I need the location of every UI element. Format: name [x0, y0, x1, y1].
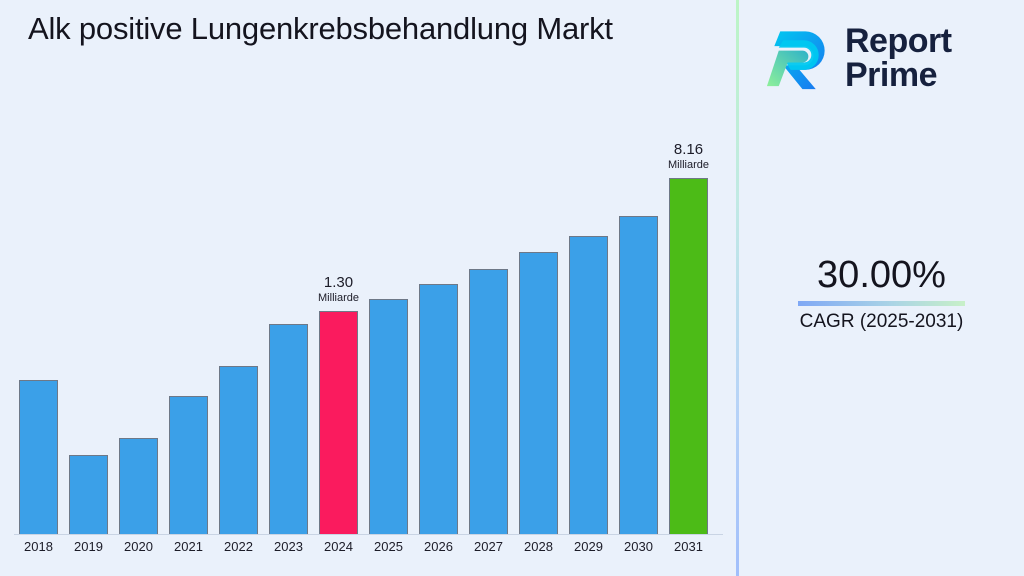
logo-wordmark: Report Prime: [845, 24, 952, 92]
x-tick-2025: 2025: [369, 539, 408, 554]
x-tick-2030: 2030: [619, 539, 658, 554]
bar-value-label-2031: 8.16Milliarde: [668, 141, 709, 172]
cagr-divider-rule: [798, 301, 965, 306]
bar-2019[interactable]: [69, 455, 108, 534]
chart-page: Alk positive Lungenkrebsbehandlung Markt…: [0, 0, 1024, 576]
x-tick-2019: 2019: [69, 539, 108, 554]
bar-2031[interactable]: [669, 178, 708, 534]
bar-2018[interactable]: [19, 380, 58, 534]
logo-wordmark-line-2: Prime: [845, 58, 952, 92]
bar-value-2024: 1.30: [318, 274, 359, 291]
bar-2027[interactable]: [469, 269, 508, 534]
bar-2023[interactable]: [269, 324, 308, 534]
bar-2022[interactable]: [219, 366, 258, 534]
plot-area: 1.30Milliarde8.16Milliarde: [0, 120, 737, 535]
x-tick-2029: 2029: [569, 539, 608, 554]
x-axis-tick-labels: 2018201920202021202220232024202520262027…: [0, 536, 737, 566]
x-tick-2028: 2028: [519, 539, 558, 554]
report-prime-logo: Report Prime: [761, 12, 1011, 104]
bar-2029[interactable]: [569, 236, 608, 534]
logo-wordmark-line-1: Report: [845, 24, 952, 58]
x-tick-2031: 2031: [669, 539, 708, 554]
bar-value-label-2024: 1.30Milliarde: [318, 274, 359, 305]
x-tick-2020: 2020: [119, 539, 158, 554]
bar-unit-2024: Milliarde: [318, 291, 359, 305]
report-prime-logo-icon: [761, 21, 835, 95]
bar-2024[interactable]: [319, 311, 358, 534]
bar-2021[interactable]: [169, 396, 208, 534]
x-tick-2027: 2027: [469, 539, 508, 554]
x-tick-2024: 2024: [319, 539, 358, 554]
x-tick-2023: 2023: [269, 539, 308, 554]
bar-value-2031: 8.16: [668, 141, 709, 158]
cagr-block: 30.00% CAGR (2025-2031): [739, 252, 1024, 334]
x-tick-2021: 2021: [169, 539, 208, 554]
x-tick-2022: 2022: [219, 539, 258, 554]
bar-2020[interactable]: [119, 438, 158, 534]
x-axis-line: [14, 534, 723, 535]
bar-2030[interactable]: [619, 216, 658, 534]
bar-2025[interactable]: [369, 299, 408, 534]
cagr-value: 30.00%: [739, 252, 1024, 298]
chart-title: Alk positive Lungenkrebsbehandlung Markt: [28, 8, 688, 49]
x-tick-2026: 2026: [419, 539, 458, 554]
x-tick-2018: 2018: [19, 539, 58, 554]
bar-2026[interactable]: [419, 284, 458, 534]
branding-panel: Report Prime 30.00% CAGR (2025-2031): [739, 0, 1024, 576]
cagr-caption: CAGR (2025-2031): [739, 310, 1024, 334]
chart-panel: Alk positive Lungenkrebsbehandlung Markt…: [0, 0, 737, 576]
bar-2028[interactable]: [519, 252, 558, 534]
bar-unit-2031: Milliarde: [668, 158, 709, 172]
